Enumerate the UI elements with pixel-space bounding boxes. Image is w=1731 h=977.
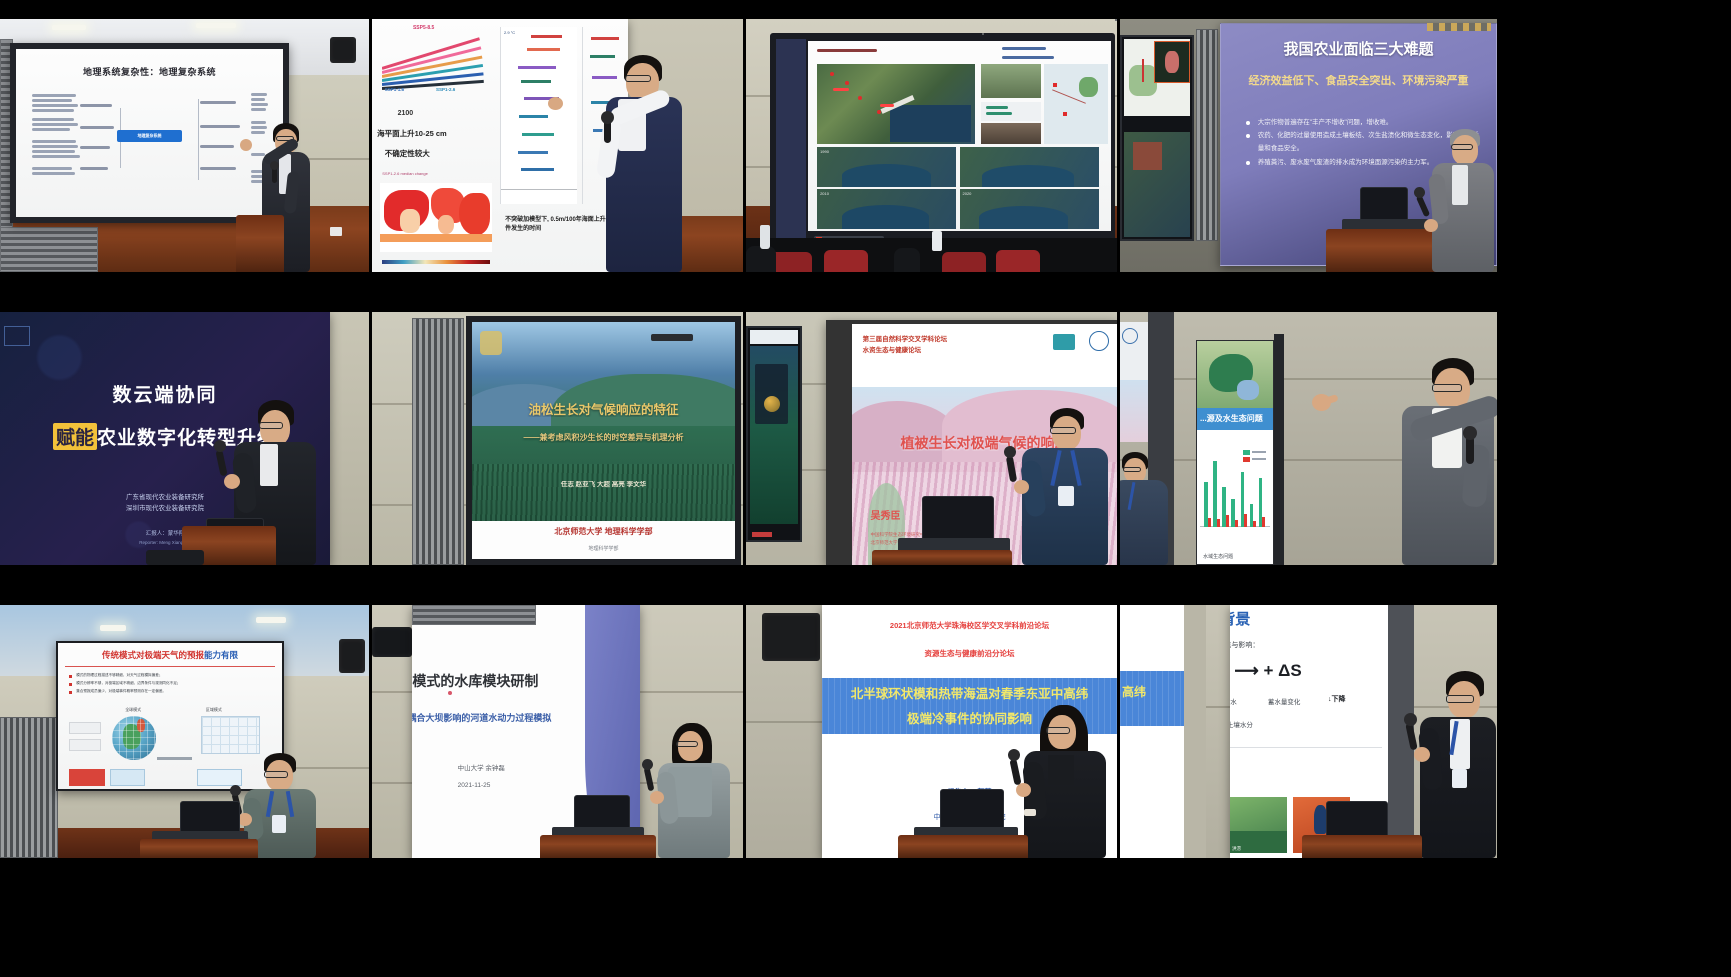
bullet-dot-icon (69, 675, 72, 678)
panel-4-speaker (1426, 129, 1497, 272)
slide-label-right: 区域模式 (206, 707, 222, 713)
panel-12-podium (1302, 835, 1422, 858)
audience-head (746, 246, 776, 272)
bullet-dot-icon (1246, 121, 1250, 125)
panel-8-slide: ...源及水生态问题 (1196, 340, 1274, 565)
panel-7-photo: 第三届自然科学交叉学科论坛 水资生态与健康论坛 植被生长对极端气候的响应 (746, 312, 1117, 565)
panel-12-photo: 高纬 ...背景 要点与影响： R ⟶ + ΔS 蓄水 蓄水量变化 ↓下降 土壤… (1120, 605, 1497, 858)
chart-series-label: SSP5-8.5 (413, 25, 434, 31)
slide-title-band: ...源及水生态问题 (1197, 408, 1273, 430)
panel-4-podium (1326, 229, 1436, 272)
slide-footer-band: 北京师范大学 地理科学学部 地理科学学部 (472, 521, 735, 559)
slide-footer-sub: 地理科学学部 (472, 545, 735, 552)
panel-12-speaker (1418, 671, 1497, 858)
wall-grille-icon (412, 605, 536, 625)
panel-10-photo: 面模式的水库模块研制 —耦合大坝影响的河道水动力过程模拟 中山大学 余钟磊 20… (372, 605, 743, 858)
slide-bullet: 大宗作物普遍存在"丰产不增收"问题，增收难。 (1246, 116, 1485, 129)
panel-2-speaker (552, 53, 692, 272)
ceiling-trim (1427, 23, 1491, 31)
panel-2-photo: SSP5-8.5 SSP1-1.6 SSP1-2.6 2100 海平面上升10-… (372, 19, 743, 272)
audience-head (894, 248, 920, 272)
wall-pillar (1184, 605, 1206, 858)
slide-footer-org: 北京师范大学 地理科学学部 (472, 526, 735, 537)
slide-center-box: 地理复杂系统 (117, 130, 181, 143)
bullet-dot-icon (1246, 134, 1250, 138)
slide-bullet-text: 集合预报成员偏少，对极端事件概率预测存在一定偏差。 (76, 689, 166, 693)
side-display-content (750, 346, 798, 524)
panel-8-second-person (1120, 452, 1176, 565)
small-object (330, 227, 342, 236)
slide-title-line1: 北半球环状模和热带海温对春季东亚中高纬 (822, 683, 1117, 702)
side-display-toolbar (750, 330, 798, 344)
display-sidebar (776, 39, 806, 239)
panel-4-photo: 我国农业面临三大难题 经济效益低下、食品安全突出、环境污染严重 大宗作物普遍存在… (1120, 19, 1497, 272)
wall-grille-icon (0, 227, 98, 272)
monitor-icon (372, 627, 412, 657)
satellite-tile: 2010 (817, 189, 956, 229)
chair-icon (996, 250, 1040, 272)
chair-icon (942, 252, 986, 272)
legend-label (1252, 451, 1266, 453)
projection-line-chart: SSP5-8.5 (382, 24, 484, 90)
badge-icon (1452, 769, 1467, 788)
slide-subtitle: ——兼考虑风积沙生长的时空差异与机理分析 (483, 433, 725, 442)
ceiling-speaker-icon (339, 639, 365, 673)
badge-icon (272, 815, 286, 833)
panel-7-side-display (746, 326, 802, 542)
slide-title-part2: 对极端天气的预报 (136, 650, 204, 660)
panel-10-laptop-screen (574, 795, 630, 829)
slide-title: ...背景 (1230, 608, 1250, 629)
colorbar (382, 260, 490, 264)
chart-series-label: SSP1-1.6 (385, 87, 404, 92)
slide-header-line1: 2021北京师范大学珠海校区学交叉学科前沿论坛 (822, 620, 1117, 631)
satellite-tile: 1990 (817, 147, 956, 187)
badge-icon (1058, 486, 1074, 506)
panel-11-speaker (1014, 705, 1114, 858)
panel-9-laptop-screen (180, 801, 240, 833)
display-sensor-bar (651, 334, 693, 341)
earth-globe-icon (112, 716, 156, 760)
slide-photo-field: 洪涝 (1230, 797, 1287, 853)
panel-6-slide: 油松生长对气候响应的特征 ——兼考虑风积沙生长的时空差异与机理分析 任志 赵亚飞… (472, 322, 735, 559)
panel-10-speaker (650, 723, 736, 858)
wall-grille-icon (0, 717, 58, 858)
slide-title: ...源及水生态问题 (1200, 413, 1263, 424)
chart-legend (1243, 450, 1266, 462)
slide-bullet-text: 模式的物理过程描述不够精细，对天气过程模拟偏差； (76, 673, 162, 677)
slide-corner-decoration (4, 326, 30, 346)
neighbor-slide-text: 高纬 (1122, 683, 1146, 700)
slide-author: 中山大学 余钟磊 (458, 762, 505, 772)
panel-5-photo: 数云端协同 赋能农业数字化转型升级 广东省现代农业装备研究所 深圳市现代农业装备… (0, 312, 369, 565)
water-bottle-icon (932, 231, 942, 251)
watch-icon (1024, 809, 1036, 816)
slide-bullet-text: 大宗作物普遍存在"丰产不增收"问题，增收难。 (1258, 119, 1393, 126)
panel-11-laptop-screen (940, 789, 1004, 829)
display-bezel (1274, 334, 1284, 565)
video-thumbnail (1154, 41, 1190, 83)
slide-bullet: 模式的物理过程描述不够精细，对天气过程模拟偏差； (69, 672, 273, 680)
panel-4-side-display (1120, 35, 1194, 241)
slide-title-part3: 能力有限 (204, 650, 238, 660)
panel-1-slide: 地理系统复杂性：地理复杂系统 (16, 49, 283, 217)
slide-text: 2100 (398, 110, 414, 117)
panel-1-podium (236, 215, 284, 272)
slide-header-line1: 第三届自然科学交叉学科论坛 (863, 334, 948, 346)
slide-bullet: 模式分辨率不够，对极端区域不精细，边界条件与观测同化不足； (69, 680, 273, 688)
slide-line-label: 要点与影响： (1230, 640, 1259, 650)
year-label: 1990 (820, 149, 829, 154)
panel-11-podium (898, 835, 1028, 858)
photo-caption: 洪涝 (1232, 846, 1241, 852)
location-map (1044, 64, 1108, 144)
panel-11-photo: 2021北京师范大学珠海校区学交叉学科前沿论坛 资源生态与健康前沿分论坛 北半球… (746, 605, 1117, 858)
panel-10-podium (540, 835, 656, 858)
legend-swatch (1243, 450, 1250, 455)
bullet-dot-icon (1246, 161, 1250, 165)
satellite-tile (960, 147, 1099, 187)
slide-title: 我国农业面临三大难题 (1232, 41, 1485, 59)
slide-basin-map (1197, 341, 1273, 408)
slide-bullet: 集合预报成员偏少，对极端事件概率预测存在一定偏差。 (69, 688, 273, 696)
water-bottle-icon (760, 225, 770, 249)
slide-center-box-label: 地理复杂系统 (137, 133, 161, 139)
panel-9-podium (140, 839, 258, 858)
legend-swatch (1243, 457, 1250, 462)
bullet-dot-icon (69, 691, 72, 694)
slide-footer: 水域生态问题 (1203, 553, 1233, 560)
panel-7-speaker (1012, 408, 1114, 565)
slide-header-line2: 资源生态与健康前沿分论坛 (822, 648, 1117, 659)
panel-5-keyboard (146, 550, 204, 565)
panel-7-podium (872, 550, 1012, 565)
slide-label-left: 全球模式 (125, 707, 141, 713)
panel-9-photo: 传统模式对极端天气的预报能力有限 模式的物理过程描述不够精细，对天气过程模拟偏差… (0, 605, 369, 858)
panel-6-photo: 油松生长对气候响应的特征 ——兼考虑风积沙生长的时空差异与机理分析 任志 赵亚飞… (372, 312, 743, 565)
slide-text: SSP1-2.6 median change (382, 171, 428, 176)
panel-7-laptop-screen (922, 496, 994, 540)
slide-annotation: 蓄水 (1230, 696, 1237, 706)
slide-title-part1: 传统模式 (102, 650, 136, 660)
slide-title: 面模式的水库模块研制 (412, 671, 538, 691)
slide-text: 不确定性较大 (385, 148, 430, 159)
slide-subtitle: 经济效益低下、食品安全突出、环境污染严重 (1232, 75, 1485, 88)
university-logo-icon (1089, 331, 1109, 351)
slide-marker-dot (448, 691, 452, 695)
slide-header-line2: 水资生态与健康论坛 (863, 345, 948, 357)
slide-annotation: ↓下降 (1328, 694, 1346, 704)
side-display-status (752, 532, 772, 537)
slide-presenter: 吴秀臣 (871, 507, 901, 522)
satellite-tile: 2020 (960, 189, 1099, 229)
institution-logo-icon (1053, 334, 1075, 350)
side-display-satellite (1124, 132, 1190, 237)
slide-title-highlight: 赋能 (53, 423, 97, 450)
panel-8-photo: ...源及水生态问题 (1120, 312, 1497, 565)
legend-tile (197, 769, 242, 787)
slide-authors: 任志 赵亚飞 大超 高亮 李文华 (483, 481, 725, 489)
legend-tile (110, 769, 146, 787)
sst-world-map (380, 183, 493, 251)
wall-grille-icon (412, 318, 464, 565)
chart-series-label: SSP1-2.6 (436, 87, 455, 92)
slide-formula: R ⟶ + ΔS (1230, 661, 1302, 681)
university-logo-icon (1122, 328, 1138, 344)
slide-bullet-text: 模式分辨率不够，对极端区域不精细，边界条件与观测同化不足； (76, 681, 180, 685)
year-label: 2010 (820, 191, 829, 196)
slide-subtitle: —耦合大坝影响的河道水动力过程模拟 (412, 711, 551, 724)
site-photo (981, 64, 1042, 98)
slide-bar-chart (1200, 448, 1270, 542)
slide-title: 油松生长对气候响应的特征 (483, 403, 725, 418)
chair-icon (824, 250, 868, 272)
aerial-photo (817, 64, 975, 144)
panel-12-left-slide-edge: 高纬 (1120, 605, 1184, 858)
slide-annotation: 土壤水分 (1230, 719, 1253, 729)
panel-1-photo: 地理系统复杂性：地理复杂系统 (0, 19, 369, 272)
panel-3-slide: 1990 2010 2020 (808, 41, 1111, 231)
legend-tile (69, 769, 105, 787)
university-logo-icon (480, 331, 502, 355)
ceiling-speaker-icon (330, 37, 356, 63)
wall-grille-icon (1196, 29, 1218, 241)
legend-label (1252, 458, 1266, 460)
panel-12-laptop-screen (1326, 801, 1388, 837)
site-caption (981, 102, 1042, 121)
slide-text: 海平面上升10-25 cm (377, 128, 447, 139)
slide-date: 2021-11-25 (458, 782, 491, 789)
panel-8-speaker (1316, 352, 1497, 565)
panel-3-photo: 1990 2010 2020 (746, 19, 1117, 272)
panel-8-left-slide-edge (1120, 322, 1148, 442)
chart-note: 2.9 °C (504, 30, 515, 35)
site-photo (981, 123, 1042, 144)
year-label: 2020 (963, 191, 972, 196)
monitor-icon (762, 613, 820, 661)
slide-title: 地理系统复杂性：地理复杂系统 (27, 67, 273, 78)
panel-3-display: 1990 2010 2020 (770, 33, 1115, 245)
panel-4-laptop-screen (1360, 187, 1408, 221)
slide-bullet-text: 养殖粪污、废水废气废渣的排水成为环境面源污染的主力军。 (1258, 159, 1434, 166)
grid-schematic (201, 716, 259, 754)
photo-grid: 地理系统复杂性：地理复杂系统 (0, 0, 1731, 977)
slide-annotation: 蓄水量变化 (1268, 696, 1301, 706)
panel-6-display: 油松生长对气候响应的特征 ——兼考虑风积沙生长的时空差异与机理分析 任志 赵亚飞… (466, 316, 741, 565)
bullet-dot-icon (69, 683, 72, 686)
